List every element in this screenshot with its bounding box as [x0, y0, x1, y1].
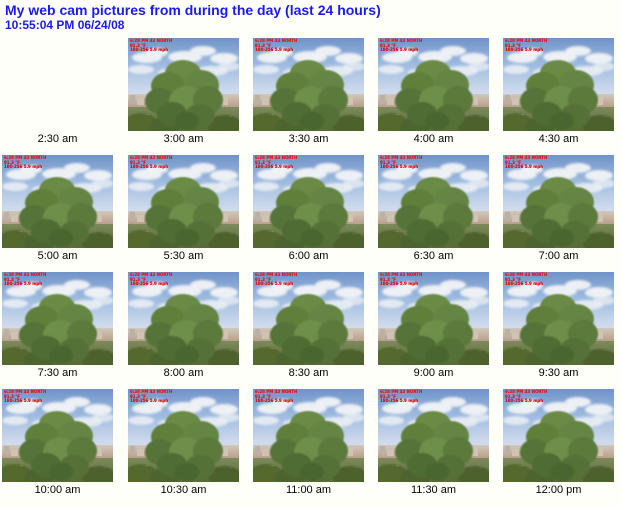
tree-canopy	[145, 177, 223, 245]
webcam-thumbnail[interactable]: 6:28 PM 43 NORTH 91.3 °F 180-256 5.9 mph	[253, 272, 364, 365]
building-shape	[137, 449, 144, 456]
thumbnail-time-label: 6:00 am	[253, 250, 364, 262]
osd-line-3: 180-256 5.9 mph	[130, 398, 168, 403]
tree-canopy	[145, 60, 223, 128]
gallery-cell: 6:28 PM 43 NORTH 91.3 °F 180-256 5.9 mph…	[253, 155, 364, 248]
gallery-cell: 6:28 PM 43 NORTH 91.3 °F 180-256 5.9 mph…	[378, 155, 489, 248]
building-shape	[387, 332, 394, 339]
tree-canopy	[520, 411, 598, 479]
gallery-cell: 6:28 PM 43 NORTH 91.3 °F 180-256 5.9 mph…	[2, 389, 113, 482]
osd-line-3: 180-256 5.9 mph	[130, 47, 168, 52]
osd-line-3: 180-256 5.9 mph	[130, 281, 168, 286]
gallery-cell: 6:28 PM 43 NORTH 91.3 °F 180-256 5.9 mph…	[128, 272, 239, 365]
gallery-cell: 6:28 PM 43 NORTH 91.3 °F 180-256 5.9 mph…	[253, 389, 364, 482]
osd-line-3: 180-256 5.9 mph	[505, 281, 543, 286]
tree-canopy	[270, 177, 348, 245]
tree-canopy	[19, 411, 97, 479]
webcam-osd-overlay: 6:28 PM 43 NORTH 91.3 °F 180-256 5.9 mph	[380, 39, 422, 53]
building-shape	[4, 329, 9, 338]
webcam-osd-overlay: 6:28 PM 43 NORTH 91.3 °F 180-256 5.9 mph	[130, 390, 172, 404]
building-shape	[505, 446, 510, 455]
building-shape	[255, 329, 260, 338]
building-shape	[380, 212, 385, 221]
webcam-thumbnail[interactable]: 6:28 PM 43 NORTH 91.3 °F 180-256 5.9 mph	[253, 38, 364, 131]
gallery-cell: 6:28 PM 43 NORTH 91.3 °F 180-256 5.9 mph…	[128, 389, 239, 482]
building-shape	[512, 98, 519, 105]
webcam-osd-overlay: 6:28 PM 43 NORTH 91.3 °F 180-256 5.9 mph	[380, 156, 422, 170]
tree-canopy	[520, 177, 598, 245]
webcam-thumbnail[interactable]: 6:28 PM 43 NORTH 91.3 °F 180-256 5.9 mph	[2, 155, 113, 248]
thumbnail-time-label: 8:30 am	[253, 367, 364, 379]
osd-line-3: 180-256 5.9 mph	[380, 281, 418, 286]
webcam-osd-overlay: 6:28 PM 43 NORTH 91.3 °F 180-256 5.9 mph	[130, 273, 172, 287]
gallery-cell: 6:28 PM 43 NORTH 91.3 °F 180-256 5.9 mph…	[2, 272, 113, 365]
osd-line-3: 180-256 5.9 mph	[380, 164, 418, 169]
webcam-thumbnail[interactable]: 6:28 PM 43 NORTH 91.3 °F 180-256 5.9 mph	[253, 155, 364, 248]
gallery-cell: 6:28 PM 43 NORTH 91.3 °F 180-256 5.9 mph…	[503, 38, 614, 131]
building-shape	[387, 449, 394, 456]
building-shape	[387, 215, 394, 222]
gallery-cell: 6:28 PM 43 NORTH 91.3 °F 180-256 5.9 mph…	[503, 272, 614, 365]
page-timestamp: 10:55:04 PM 06/24/08	[5, 18, 381, 32]
tree-canopy	[19, 294, 97, 362]
tree-canopy	[270, 411, 348, 479]
webcam-osd-overlay: 6:28 PM 43 NORTH 91.3 °F 180-256 5.9 mph	[505, 156, 547, 170]
webcam-thumbnail-gallery: 6:28 PM 43 NORTH 91.3 °F 180-256 5.9 mph…	[2, 38, 621, 506]
gallery-cell: 6:28 PM 43 NORTH 91.3 °F 180-256 5.9 mph…	[378, 389, 489, 482]
building-shape	[130, 329, 135, 338]
webcam-thumbnail[interactable]: 6:28 PM 43 NORTH 91.3 °F 180-256 5.9 mph	[128, 38, 239, 131]
webcam-thumbnail[interactable]: 6:28 PM 43 NORTH 91.3 °F 180-256 5.9 mph	[503, 155, 614, 248]
building-shape	[262, 449, 269, 456]
webcam-osd-overlay: 6:28 PM 43 NORTH 91.3 °F 180-256 5.9 mph	[4, 273, 46, 287]
osd-line-3: 180-256 5.9 mph	[505, 47, 543, 52]
webcam-osd-overlay: 6:28 PM 43 NORTH 91.3 °F 180-256 5.9 mph	[4, 156, 46, 170]
thumbnail-time-label: 12:00 pm	[503, 484, 614, 496]
webcam-osd-overlay: 6:28 PM 43 NORTH 91.3 °F 180-256 5.9 mph	[255, 273, 297, 287]
building-shape	[380, 95, 385, 104]
webcam-thumbnail[interactable]: 6:28 PM 43 NORTH 91.3 °F 180-256 5.9 mph	[128, 389, 239, 482]
building-shape	[380, 329, 385, 338]
tree-canopy	[395, 60, 473, 128]
thumbnail-time-label: 4:30 am	[503, 133, 614, 145]
webcam-osd-overlay: 6:28 PM 43 NORTH 91.3 °F 180-256 5.9 mph	[505, 390, 547, 404]
thumbnail-time-label: 5:00 am	[2, 250, 113, 262]
osd-line-3: 180-256 5.9 mph	[130, 164, 168, 169]
page-title: My web cam pictures from during the day …	[5, 2, 381, 18]
osd-line-3: 180-256 5.9 mph	[255, 398, 293, 403]
webcam-thumbnail[interactable]: 6:28 PM 43 NORTH 91.3 °F 180-256 5.9 mph	[503, 38, 614, 131]
thumbnail-time-label: 11:30 am	[378, 484, 489, 496]
building-shape	[11, 332, 18, 339]
gallery-cell: 6:28 PM 43 NORTH 91.3 °F 180-256 5.9 mph…	[2, 38, 113, 131]
building-shape	[505, 212, 510, 221]
building-shape	[512, 332, 519, 339]
webcam-osd-overlay: 6:28 PM 43 NORTH 91.3 °F 180-256 5.9 mph	[255, 156, 297, 170]
building-shape	[262, 215, 269, 222]
thumbnail-time-label: 9:30 am	[503, 367, 614, 379]
gallery-cell: 6:28 PM 43 NORTH 91.3 °F 180-256 5.9 mph…	[503, 155, 614, 248]
building-shape	[11, 449, 18, 456]
building-shape	[255, 95, 260, 104]
building-shape	[4, 212, 9, 221]
tree-canopy	[19, 177, 97, 245]
building-shape	[262, 98, 269, 105]
building-shape	[130, 212, 135, 221]
building-shape	[505, 329, 510, 338]
gallery-cell: 6:28 PM 43 NORTH 91.3 °F 180-256 5.9 mph…	[378, 38, 489, 131]
thumbnail-time-label: 3:30 am	[253, 133, 364, 145]
thumbnail-time-label: 11:00 am	[253, 484, 364, 496]
page-header: My web cam pictures from during the day …	[5, 2, 381, 32]
gallery-cell: 6:28 PM 43 NORTH 91.3 °F 180-256 5.9 mph…	[128, 38, 239, 131]
webcam-osd-overlay: 6:28 PM 43 NORTH 91.3 °F 180-256 5.9 mph	[4, 390, 46, 404]
gallery-row: 6:28 PM 43 NORTH 91.3 °F 180-256 5.9 mph…	[2, 389, 621, 506]
tree-canopy	[395, 411, 473, 479]
osd-line-3: 180-256 5.9 mph	[505, 164, 543, 169]
webcam-osd-overlay: 6:28 PM 43 NORTH 91.3 °F 180-256 5.9 mph	[505, 39, 547, 53]
gallery-row: 6:28 PM 43 NORTH 91.3 °F 180-256 5.9 mph…	[2, 155, 621, 272]
thumbnail-time-label: 4:00 am	[378, 133, 489, 145]
building-shape	[512, 449, 519, 456]
webcam-thumbnail[interactable]: 6:28 PM 43 NORTH 91.3 °F 180-256 5.9 mph	[2, 272, 113, 365]
osd-line-3: 180-256 5.9 mph	[255, 281, 293, 286]
webcam-thumbnail[interactable]: 6:28 PM 43 NORTH 91.3 °F 180-256 5.9 mph	[128, 272, 239, 365]
webcam-thumbnail[interactable]: 6:28 PM 43 NORTH 91.3 °F 180-256 5.9 mph	[378, 389, 489, 482]
gallery-cell: 6:28 PM 43 NORTH 91.3 °F 180-256 5.9 mph…	[503, 389, 614, 482]
tree-canopy	[520, 60, 598, 128]
gallery-row: 6:28 PM 43 NORTH 91.3 °F 180-256 5.9 mph…	[2, 272, 621, 389]
webcam-thumbnail[interactable]: 6:28 PM 43 NORTH 91.3 °F 180-256 5.9 mph	[503, 272, 614, 365]
thumbnail-time-label: 10:00 am	[2, 484, 113, 496]
tree-canopy	[145, 294, 223, 362]
building-shape	[130, 446, 135, 455]
webcam-osd-overlay: 6:28 PM 43 NORTH 91.3 °F 180-256 5.9 mph	[505, 273, 547, 287]
webcam-thumbnail[interactable]: 6:28 PM 43 NORTH 91.3 °F 180-256 5.9 mph	[253, 389, 364, 482]
osd-line-3: 180-256 5.9 mph	[255, 164, 293, 169]
thumbnail-time-label: 7:30 am	[2, 367, 113, 379]
thumbnail-time-label: 8:00 am	[128, 367, 239, 379]
tree-canopy	[395, 294, 473, 362]
thumbnail-time-label: 6:30 am	[378, 250, 489, 262]
building-shape	[137, 215, 144, 222]
building-shape	[380, 446, 385, 455]
thumbnail-time-label: 5:30 am	[128, 250, 239, 262]
osd-line-3: 180-256 5.9 mph	[255, 47, 293, 52]
building-shape	[262, 332, 269, 339]
building-shape	[11, 215, 18, 222]
webcam-thumbnail[interactable]: 6:28 PM 43 NORTH 91.3 °F 180-256 5.9 mph	[378, 272, 489, 365]
webcam-osd-overlay: 6:28 PM 43 NORTH 91.3 °F 180-256 5.9 mph	[130, 39, 172, 53]
gallery-cell: 6:28 PM 43 NORTH 91.3 °F 180-256 5.9 mph…	[253, 38, 364, 131]
thumbnail-time-label: 3:00 am	[128, 133, 239, 145]
building-shape	[137, 98, 144, 105]
building-shape	[255, 446, 260, 455]
building-shape	[255, 212, 260, 221]
building-shape	[505, 95, 510, 104]
webcam-thumbnail[interactable]: 6:28 PM 43 NORTH 91.3 °F 180-256 5.9 mph	[128, 155, 239, 248]
osd-line-3: 180-256 5.9 mph	[4, 164, 42, 169]
webcam-osd-overlay: 6:28 PM 43 NORTH 91.3 °F 180-256 5.9 mph	[255, 390, 297, 404]
webcam-thumbnail[interactable]: 6:28 PM 43 NORTH 91.3 °F 180-256 5.9 mph	[378, 38, 489, 131]
tree-canopy	[395, 177, 473, 245]
building-shape	[387, 98, 394, 105]
osd-line-3: 180-256 5.9 mph	[4, 398, 42, 403]
building-shape	[4, 446, 9, 455]
tree-canopy	[270, 294, 348, 362]
thumbnail-time-label: 10:30 am	[128, 484, 239, 496]
osd-line-3: 180-256 5.9 mph	[505, 398, 543, 403]
osd-line-3: 180-256 5.9 mph	[4, 281, 42, 286]
gallery-cell: 6:28 PM 43 NORTH 91.3 °F 180-256 5.9 mph…	[2, 155, 113, 248]
building-shape	[512, 215, 519, 222]
tree-canopy	[520, 294, 598, 362]
webcam-thumbnail[interactable]: 6:28 PM 43 NORTH 91.3 °F 180-256 5.9 mph	[2, 389, 113, 482]
building-shape	[137, 332, 144, 339]
gallery-cell: 6:28 PM 43 NORTH 91.3 °F 180-256 5.9 mph…	[378, 272, 489, 365]
thumbnail-time-label: 7:00 am	[503, 250, 614, 262]
gallery-cell: 6:28 PM 43 NORTH 91.3 °F 180-256 5.9 mph…	[128, 155, 239, 248]
webcam-osd-overlay: 6:28 PM 43 NORTH 91.3 °F 180-256 5.9 mph	[380, 390, 422, 404]
webcam-osd-overlay: 6:28 PM 43 NORTH 91.3 °F 180-256 5.9 mph	[380, 273, 422, 287]
thumbnail-time-label: 9:00 am	[378, 367, 489, 379]
osd-line-3: 180-256 5.9 mph	[380, 398, 418, 403]
webcam-thumbnail[interactable]: 6:28 PM 43 NORTH 91.3 °F 180-256 5.9 mph	[503, 389, 614, 482]
osd-line-3: 180-256 5.9 mph	[380, 47, 418, 52]
building-shape	[130, 95, 135, 104]
webcam-osd-overlay: 6:28 PM 43 NORTH 91.3 °F 180-256 5.9 mph	[255, 39, 297, 53]
tree-canopy	[145, 411, 223, 479]
gallery-row: 6:28 PM 43 NORTH 91.3 °F 180-256 5.9 mph…	[2, 38, 621, 155]
thumbnail-time-label: 2:30 am	[2, 133, 113, 145]
webcam-thumbnail[interactable]: 6:28 PM 43 NORTH 91.3 °F 180-256 5.9 mph	[378, 155, 489, 248]
gallery-cell: 6:28 PM 43 NORTH 91.3 °F 180-256 5.9 mph…	[253, 272, 364, 365]
webcam-osd-overlay: 6:28 PM 43 NORTH 91.3 °F 180-256 5.9 mph	[130, 156, 172, 170]
tree-canopy	[270, 60, 348, 128]
